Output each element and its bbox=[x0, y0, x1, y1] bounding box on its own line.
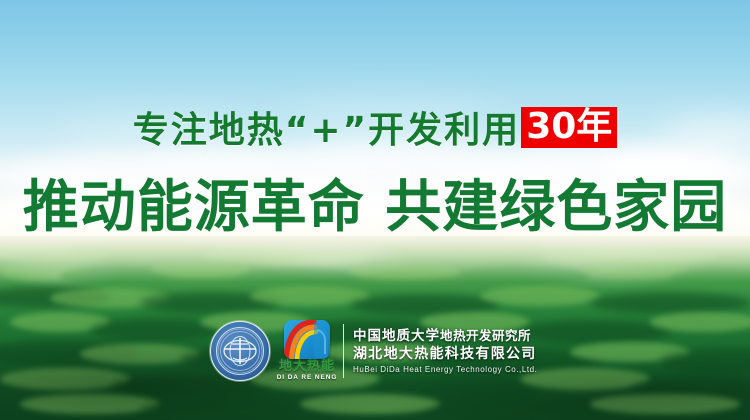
brand-name-cn: 地大热能 bbox=[279, 360, 335, 373]
university-seal-icon bbox=[210, 321, 270, 381]
brand-name-en: DI DA RE NENG bbox=[277, 374, 338, 382]
organization-text: 中国地质大学地热开发研究所 湖北地大热能科技有限公司 HuBei DiDa He… bbox=[353, 327, 537, 376]
org-line-2: 湖北地大热能科技有限公司 bbox=[353, 345, 537, 364]
tagline: 专注地热“+”开发利用30年 bbox=[0, 101, 750, 153]
promo-banner: 专注地热“+”开发利用30年 推动能源革命 共建绿色家园 bbox=[0, 0, 750, 420]
brand-mark: 地大热能 DI DA RE NENG bbox=[276, 320, 338, 382]
logo-lockup[interactable]: 地大热能 DI DA RE NENG 中国地质大学地热开发研究所 湖北地大热能科… bbox=[210, 316, 530, 386]
headline: 推动能源革命 共建绿色家园 bbox=[0, 162, 750, 243]
anniversary-badge: 30年 bbox=[521, 107, 617, 148]
rainbow-swoosh-icon bbox=[284, 320, 330, 359]
tagline-text: 专注地热“+”开发利用 bbox=[133, 110, 521, 151]
org-line-1: 中国地质大学地热开发研究所 bbox=[353, 327, 537, 345]
org-line-3-en: HuBei DiDa Heat Energy Technology Co.,Lt… bbox=[353, 364, 537, 376]
headline-text: 推动能源革命 共建绿色家园 bbox=[23, 175, 728, 240]
org-institute-name: 地热开发研究所 bbox=[440, 328, 531, 343]
logo-divider bbox=[343, 324, 344, 378]
org-university-name: 中国地质大学 bbox=[353, 328, 440, 344]
